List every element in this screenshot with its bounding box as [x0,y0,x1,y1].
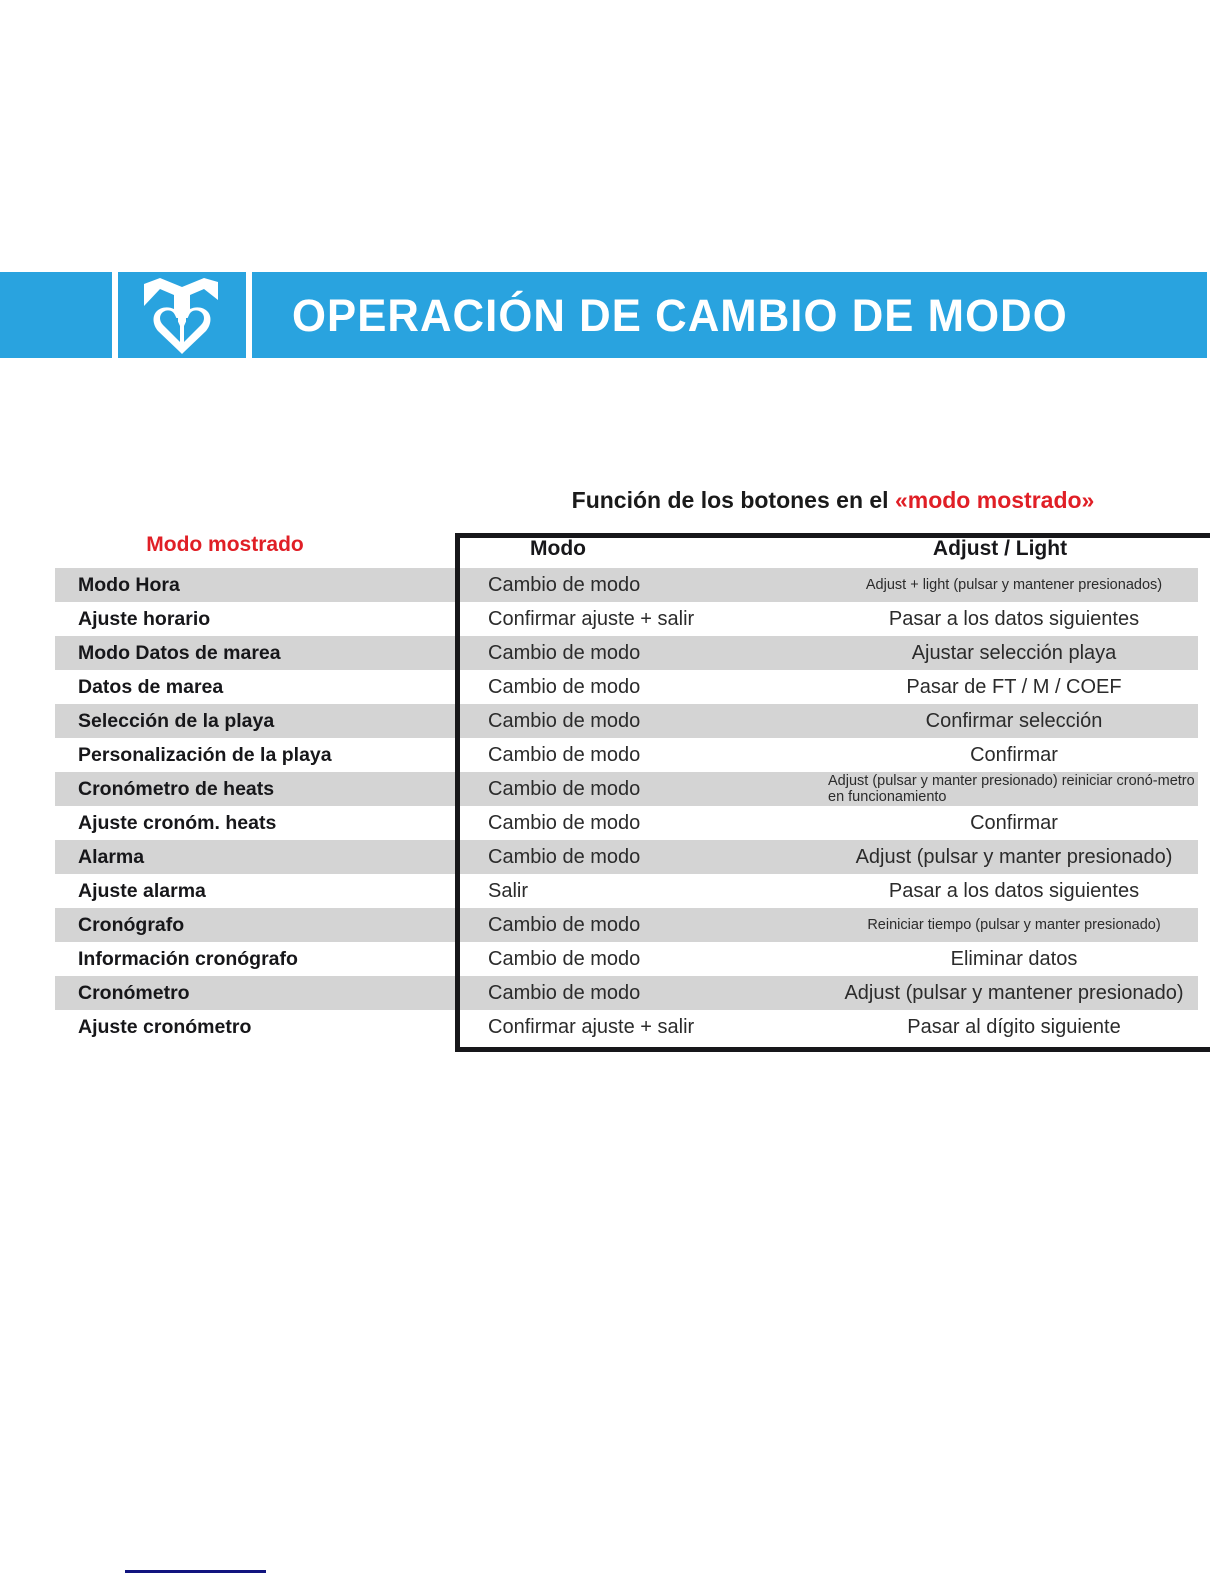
cell-mode-button-action: Cambio de modo [488,812,828,835]
cell-displayed-mode: Modo Datos de marea [78,642,448,665]
header-left-fill [0,272,112,358]
cell-displayed-mode: Ajuste cronómetro [78,1016,448,1039]
cell-displayed-mode: Selección de la playa [78,710,448,733]
cell-adjust-light-action: Ajustar selección playa [828,643,1200,664]
cell-displayed-mode: Modo Hora [78,574,448,597]
column-header-adjust-light-button: Adjust / Light [800,537,1200,561]
table-row: Modo HoraCambio de modoAdjust + light (p… [0,568,1224,602]
cell-displayed-mode: Personalización de la playa [78,744,448,767]
cell-mode-button-action: Salir [488,880,828,903]
table-super-title: Función de los botones en el «modo mostr… [455,487,1211,514]
table-row: Datos de mareaCambio de modoPasar de FT … [0,670,1224,704]
cell-mode-button-action: Cambio de modo [488,744,828,767]
cell-mode-button-action: Cambio de modo [488,642,828,665]
table-super-title-prefix: Función de los botones en el [572,487,895,513]
table-row: Ajuste cronómetroConfirmar ajuste + sali… [0,1010,1224,1044]
cell-displayed-mode: Información cronógrafo [78,948,448,971]
table-row: Información cronógrafoCambio de modoElim… [0,942,1224,976]
cell-mode-button-action: Confirmar ajuste + salir [488,1016,828,1039]
table-super-title-highlight: «modo mostrado» [895,487,1094,513]
table-row: Selección de la playaCambio de modoConfi… [0,704,1224,738]
cell-displayed-mode: Ajuste horario [78,608,448,631]
cell-adjust-light-action: Confirmar [828,813,1200,834]
table-row: Cronómetro de heatsCambio de modoAdjust … [0,772,1224,806]
column-header-displayed-mode: Modo mostrado [55,533,395,557]
cell-adjust-light-action: Pasar a los datos siguientes [828,881,1200,902]
cell-displayed-mode: Cronómetro [78,982,448,1005]
footer-rule [125,1570,266,1573]
cell-adjust-light-action: Confirmar [828,745,1200,766]
cell-mode-button-action: Cambio de modo [488,778,828,801]
table-row: CronógrafoCambio de modoReiniciar tiempo… [0,908,1224,942]
cell-adjust-light-action: Pasar al dígito siguiente [828,1017,1200,1038]
column-header-mode-button: Modo [470,537,760,561]
cell-adjust-light-action: Adjust (pulsar y manter presionado) rein… [828,773,1200,805]
table-row: Modo Datos de mareaCambio de modoAjustar… [0,636,1224,670]
cell-adjust-light-action: Eliminar datos [828,949,1200,970]
cell-adjust-light-action: Adjust (pulsar y manter presionado) [828,847,1200,868]
page-header-band: OPERACIÓN DE CAMBIO DE MODO [0,272,1207,358]
cell-displayed-mode: Cronómetro de heats [78,778,448,801]
cell-mode-button-action: Cambio de modo [488,574,828,597]
cell-adjust-light-action: Adjust + light (pulsar y mantener presio… [828,577,1200,593]
cell-mode-button-action: Cambio de modo [488,676,828,699]
cell-mode-button-action: Cambio de modo [488,982,828,1005]
table-row: Ajuste cronóm. heatsCambio de modoConfir… [0,806,1224,840]
cell-adjust-light-action: Pasar de FT / M / COEF [828,677,1200,698]
cell-mode-button-action: Confirmar ajuste + salir [488,608,828,631]
cell-displayed-mode: Alarma [78,846,448,869]
table-row: Personalización de la playaCambio de mod… [0,738,1224,772]
cell-displayed-mode: Ajuste cronóm. heats [78,812,448,835]
page-title: OPERACIÓN DE CAMBIO DE MODO [292,293,1068,338]
table-row: Ajuste alarmaSalirPasar a los datos sigu… [0,874,1224,908]
table-body: Modo HoraCambio de modoAdjust + light (p… [0,568,1224,1044]
table-row: CronómetroCambio de modoAdjust (pulsar y… [0,976,1224,1010]
cell-mode-button-action: Cambio de modo [488,846,828,869]
table-column-headers: Modo mostrado Modo Adjust / Light [0,533,1224,572]
cell-adjust-light-action: Confirmar selección [828,711,1200,732]
cell-adjust-light-action: Reiniciar tiempo (pulsar y manter presio… [828,917,1200,933]
cell-mode-button-action: Cambio de modo [488,914,828,937]
cell-displayed-mode: Datos de marea [78,676,448,699]
cell-displayed-mode: Cronógrafo [78,914,448,937]
table-row: AlarmaCambio de modoAdjust (pulsar y man… [0,840,1224,874]
cell-displayed-mode: Ajuste alarma [78,880,448,903]
cell-adjust-light-action: Adjust (pulsar y mantener presionado) [828,983,1200,1004]
brand-logo-box [112,272,252,358]
cell-mode-button-action: Cambio de modo [488,710,828,733]
table-row: Ajuste horarioConfirmar ajuste + salirPa… [0,602,1224,636]
roxy-heart-logo-icon [130,276,234,354]
cell-mode-button-action: Cambio de modo [488,948,828,971]
page-title-wrap: OPERACIÓN DE CAMBIO DE MODO [252,272,1207,358]
cell-adjust-light-action: Pasar a los datos siguientes [828,609,1200,630]
